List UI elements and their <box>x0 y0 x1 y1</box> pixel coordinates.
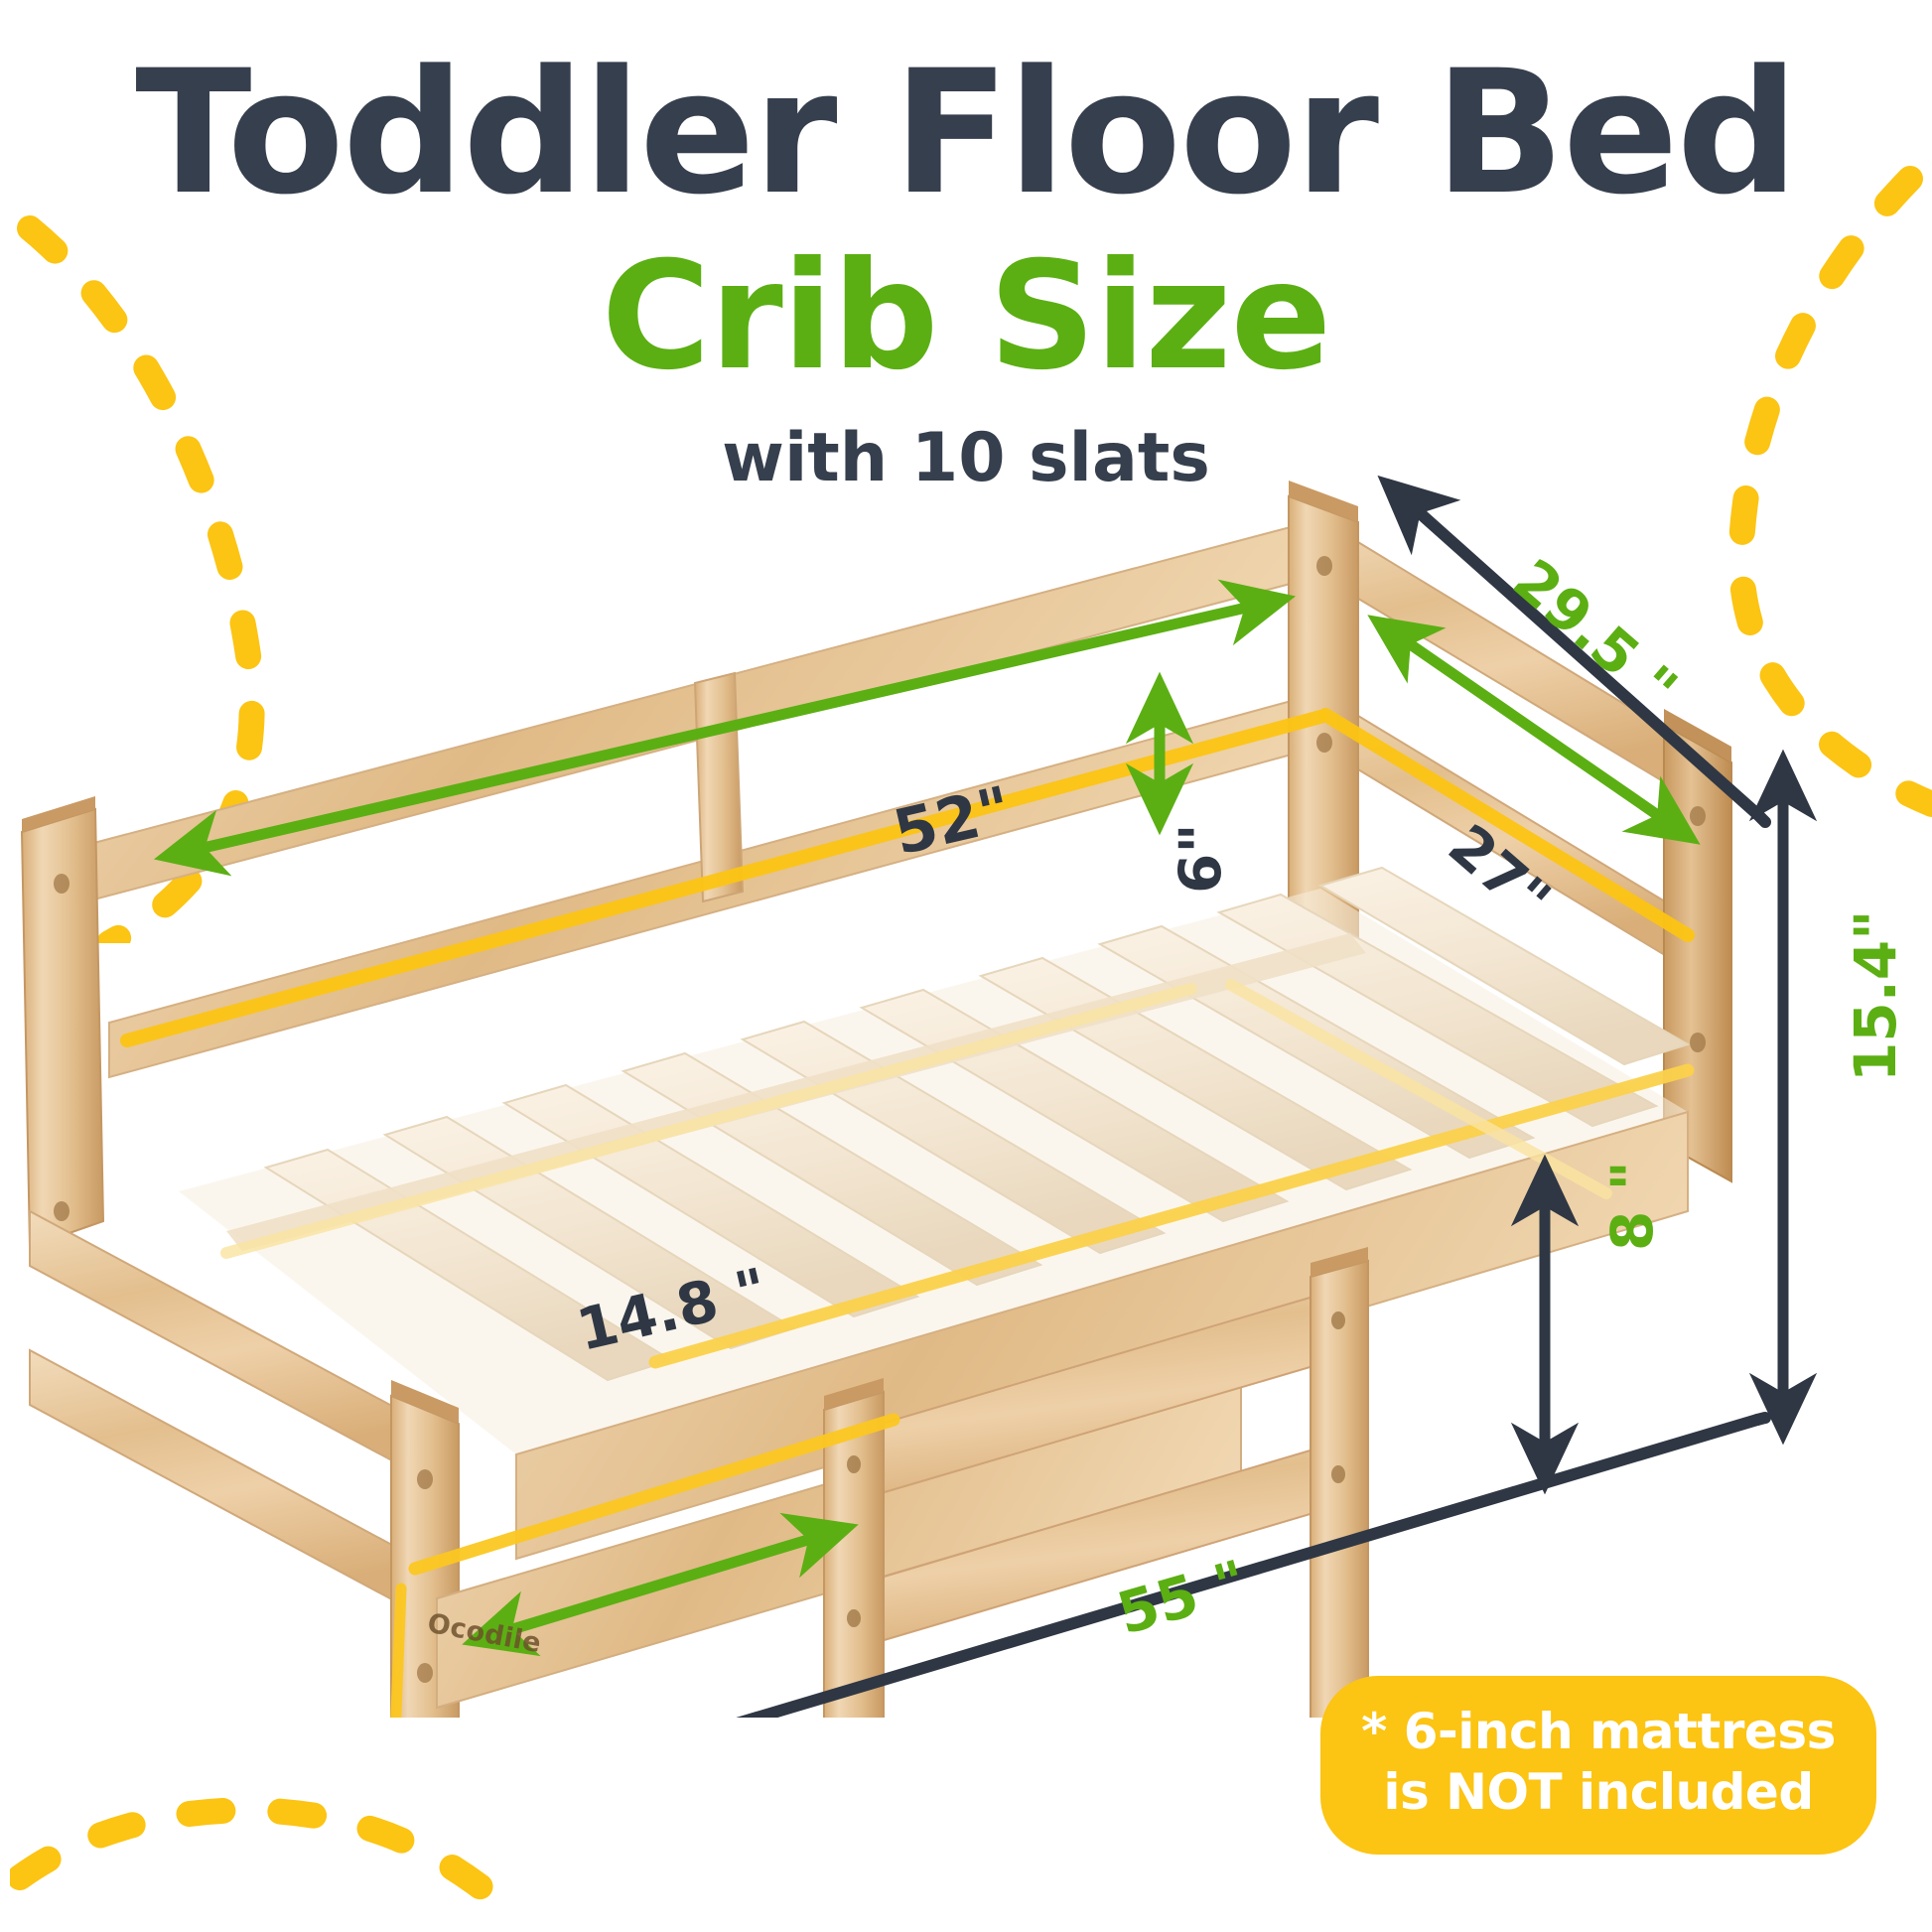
note-line-2: is NOT included <box>1354 1762 1843 1823</box>
dashed-curve-bottom-decoration <box>10 1743 526 1932</box>
product-illustration-floor-bed <box>0 427 1932 1718</box>
dimension-label-8: 8 " <box>1598 1161 1666 1251</box>
title-block: Toddler Floor Bed Crib Size with 10 slat… <box>0 0 1932 492</box>
infographic-canvas: Toddler Floor Bed Crib Size with 10 slat… <box>0 0 1932 1932</box>
page-title: Toddler Floor Bed <box>0 48 1932 218</box>
dimension-label-15-4: 15.4" <box>1842 910 1909 1082</box>
page-subtitle: Crib Size <box>0 242 1932 391</box>
page-tagline: with 10 slats <box>0 425 1932 492</box>
dimension-label-6: 6" <box>1167 823 1234 894</box>
mattress-not-included-note: * 6-inch mattress is NOT included <box>1320 1676 1876 1855</box>
note-line-1: * 6-inch mattress <box>1354 1702 1843 1762</box>
